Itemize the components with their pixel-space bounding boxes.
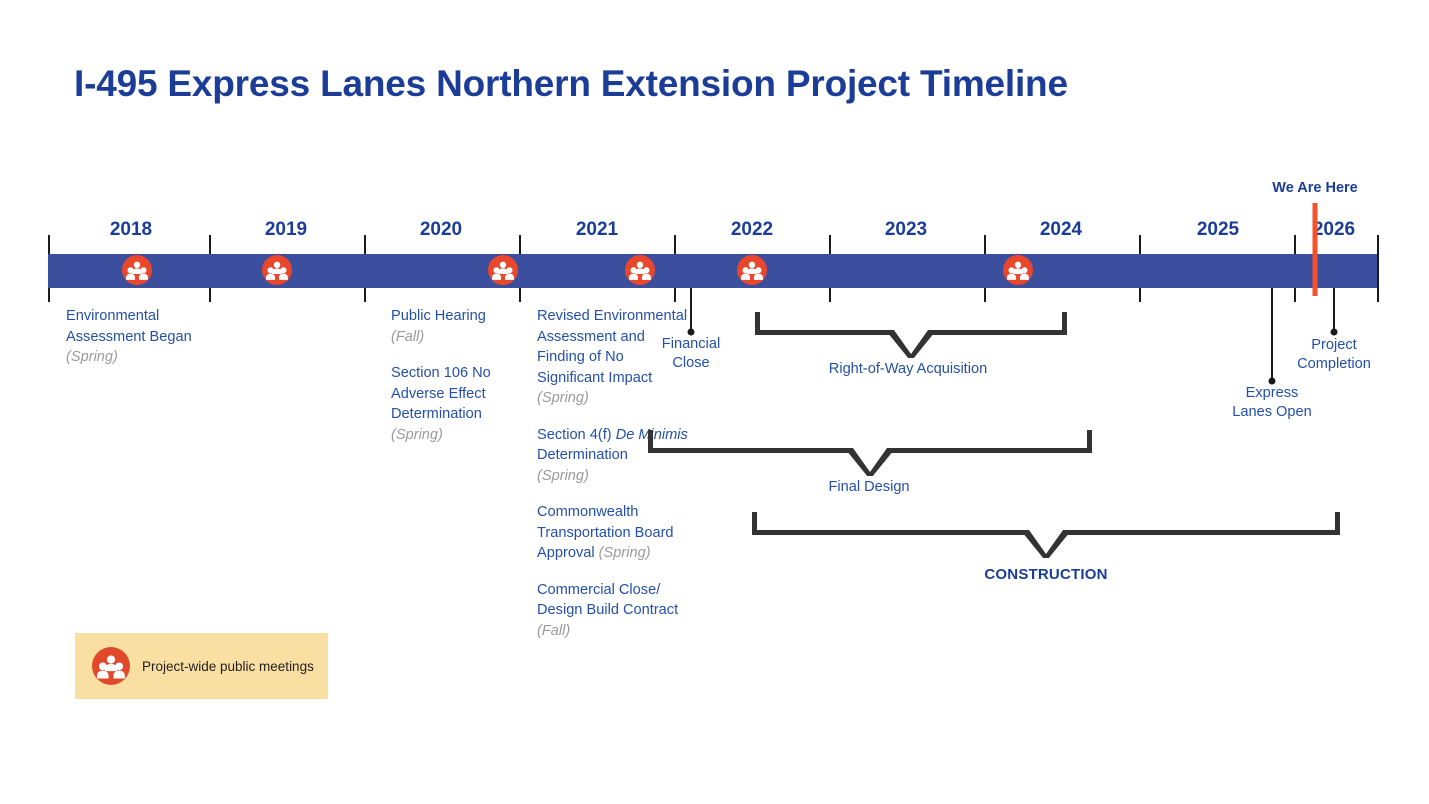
milestone-item: Commonwealth Transportation Board Approv… xyxy=(537,502,689,564)
milestone-item: Commercial Close/ Design Build Contract(… xyxy=(537,580,689,642)
year-label-2020: 2020 xyxy=(420,219,462,241)
public-meeting-icon xyxy=(122,255,152,285)
milestone-season: (Spring) xyxy=(599,545,651,561)
milestone-item: Section 106 No Adverse Effect Determinat… xyxy=(391,363,511,445)
project-completion-dot xyxy=(1331,329,1338,336)
milestone-item: Environmental Assessment Began(Spring) xyxy=(66,306,216,368)
milestone-season: (Spring) xyxy=(537,468,589,484)
public-meeting-icon xyxy=(1003,255,1033,285)
year-label-2021: 2021 xyxy=(576,219,618,241)
we-are-here-marker xyxy=(1313,203,1318,296)
public-meeting-icon xyxy=(262,255,292,285)
milestone-season: (Spring) xyxy=(66,349,118,365)
year-label-2018: 2018 xyxy=(110,219,152,241)
construction-label: CONSTRUCTION xyxy=(984,566,1107,583)
milestone-text: Section 106 No Adverse Effect Determinat… xyxy=(391,365,491,422)
express-lanes-open-label: ExpressLanes Open xyxy=(1232,384,1312,422)
legend-box: Project-wide public meetings xyxy=(75,633,328,699)
legend-label: Project-wide public meetings xyxy=(142,659,314,674)
final-design-bracket xyxy=(648,430,1092,476)
col-2020: Public Hearing(Fall)Section 106 No Adver… xyxy=(391,306,511,445)
year-tick-9 xyxy=(1377,235,1379,302)
right-of-way-acquisition-bracket xyxy=(755,312,1067,358)
year-label-2025: 2025 xyxy=(1197,219,1239,241)
milestone-item: Public Hearing(Fall) xyxy=(391,306,511,347)
col-2018: Environmental Assessment Began(Spring) xyxy=(66,306,216,368)
timeline-bar xyxy=(48,254,1377,288)
year-label-2019: 2019 xyxy=(265,219,307,241)
milestone-text: Commercial Close/ Design Build Contract xyxy=(537,582,678,619)
we-are-here-label: We Are Here xyxy=(1272,180,1357,196)
year-label-2026: 2026 xyxy=(1313,219,1355,241)
financial-close-label: FinancialClose xyxy=(662,335,720,373)
express-lanes-open-line xyxy=(1271,288,1273,381)
public-meeting-icon xyxy=(92,647,130,685)
page-title: I-495 Express Lanes Northern Extension P… xyxy=(74,63,1068,105)
project-completion-label: ProjectCompletion xyxy=(1297,336,1371,374)
final-design-label: Final Design xyxy=(828,479,909,495)
milestone-text: Public Hearing xyxy=(391,308,486,324)
milestone-season: (Spring) xyxy=(537,390,589,406)
timeline-infographic: I-495 Express Lanes Northern Extension P… xyxy=(0,0,1429,804)
financial-close-line xyxy=(690,288,692,332)
construction-bracket xyxy=(752,512,1340,558)
public-meeting-icon xyxy=(625,255,655,285)
year-label-2022: 2022 xyxy=(731,219,773,241)
year-label-2024: 2024 xyxy=(1040,219,1082,241)
project-completion-line xyxy=(1333,288,1335,332)
milestone-season: (Fall) xyxy=(391,329,424,345)
public-meeting-icon xyxy=(737,255,767,285)
milestone-season: (Spring) xyxy=(391,427,443,443)
milestone-text: Environmental Assessment Began xyxy=(66,308,192,345)
year-label-2023: 2023 xyxy=(885,219,927,241)
milestone-season: (Fall) xyxy=(537,623,570,639)
right-of-way-acquisition-label: Right-of-Way Acquisition xyxy=(829,361,987,377)
public-meeting-icon xyxy=(488,255,518,285)
